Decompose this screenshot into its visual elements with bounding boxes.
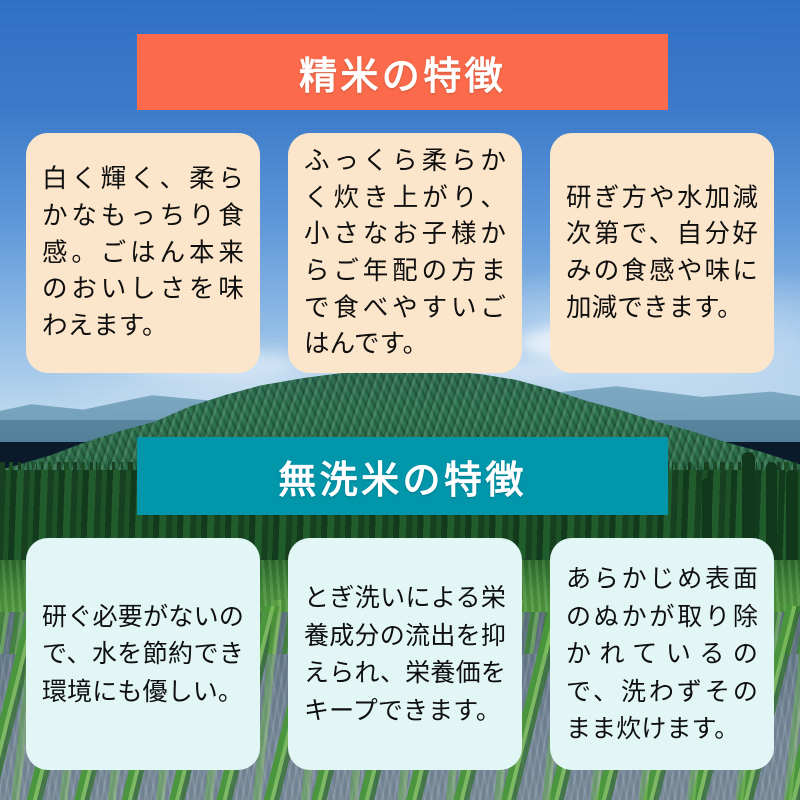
banner-musenmai: 無洗米の特徴 — [137, 437, 668, 515]
card-adjustable: 研ぎ方や水加減次第で、自分好みの食感や味に加減できます。 — [550, 133, 774, 373]
card-nutrition-keep-text: とぎ洗いによる栄養成分の流出を抑えられ、栄養価をキープできます。 — [304, 579, 506, 729]
card-water-saving-text: 研ぐ必要がないので、水を節約でき環境にも優しい。 — [42, 598, 244, 711]
card-easy-to-eat-text: ふっくら柔らかく炊き上がり、小さなお子様からご年配の方まで食べやすいごはんです。 — [304, 143, 506, 363]
card-texture-text: 白く輝く、柔らかなもっちり食感。ごはん本来のおいしさを味わえます。 — [42, 161, 244, 345]
card-no-rinse-text: あらかじめ表面のぬかが取り除かれているので、洗わずそのまま炊けます。 — [566, 560, 758, 748]
card-easy-to-eat: ふっくら柔らかく炊き上がり、小さなお子様からご年配の方まで食べやすいごはんです。 — [288, 133, 522, 373]
banner-polished-rice: 精米の特徴 — [137, 34, 668, 110]
infographic-canvas: 精米の特徴 白く輝く、柔らかなもっちり食感。ごはん本来のおいしさを味わえます。 … — [0, 0, 800, 800]
card-no-rinse: あらかじめ表面のぬかが取り除かれているので、洗わずそのまま炊けます。 — [550, 538, 774, 770]
card-water-saving: 研ぐ必要がないので、水を節約でき環境にも優しい。 — [26, 538, 260, 770]
card-adjustable-text: 研ぎ方や水加減次第で、自分好みの食感や味に加減できます。 — [566, 180, 758, 327]
card-nutrition-keep: とぎ洗いによる栄養成分の流出を抑えられ、栄養価をキープできます。 — [288, 538, 522, 770]
card-texture: 白く輝く、柔らかなもっちり食感。ごはん本来のおいしさを味わえます。 — [26, 133, 260, 373]
